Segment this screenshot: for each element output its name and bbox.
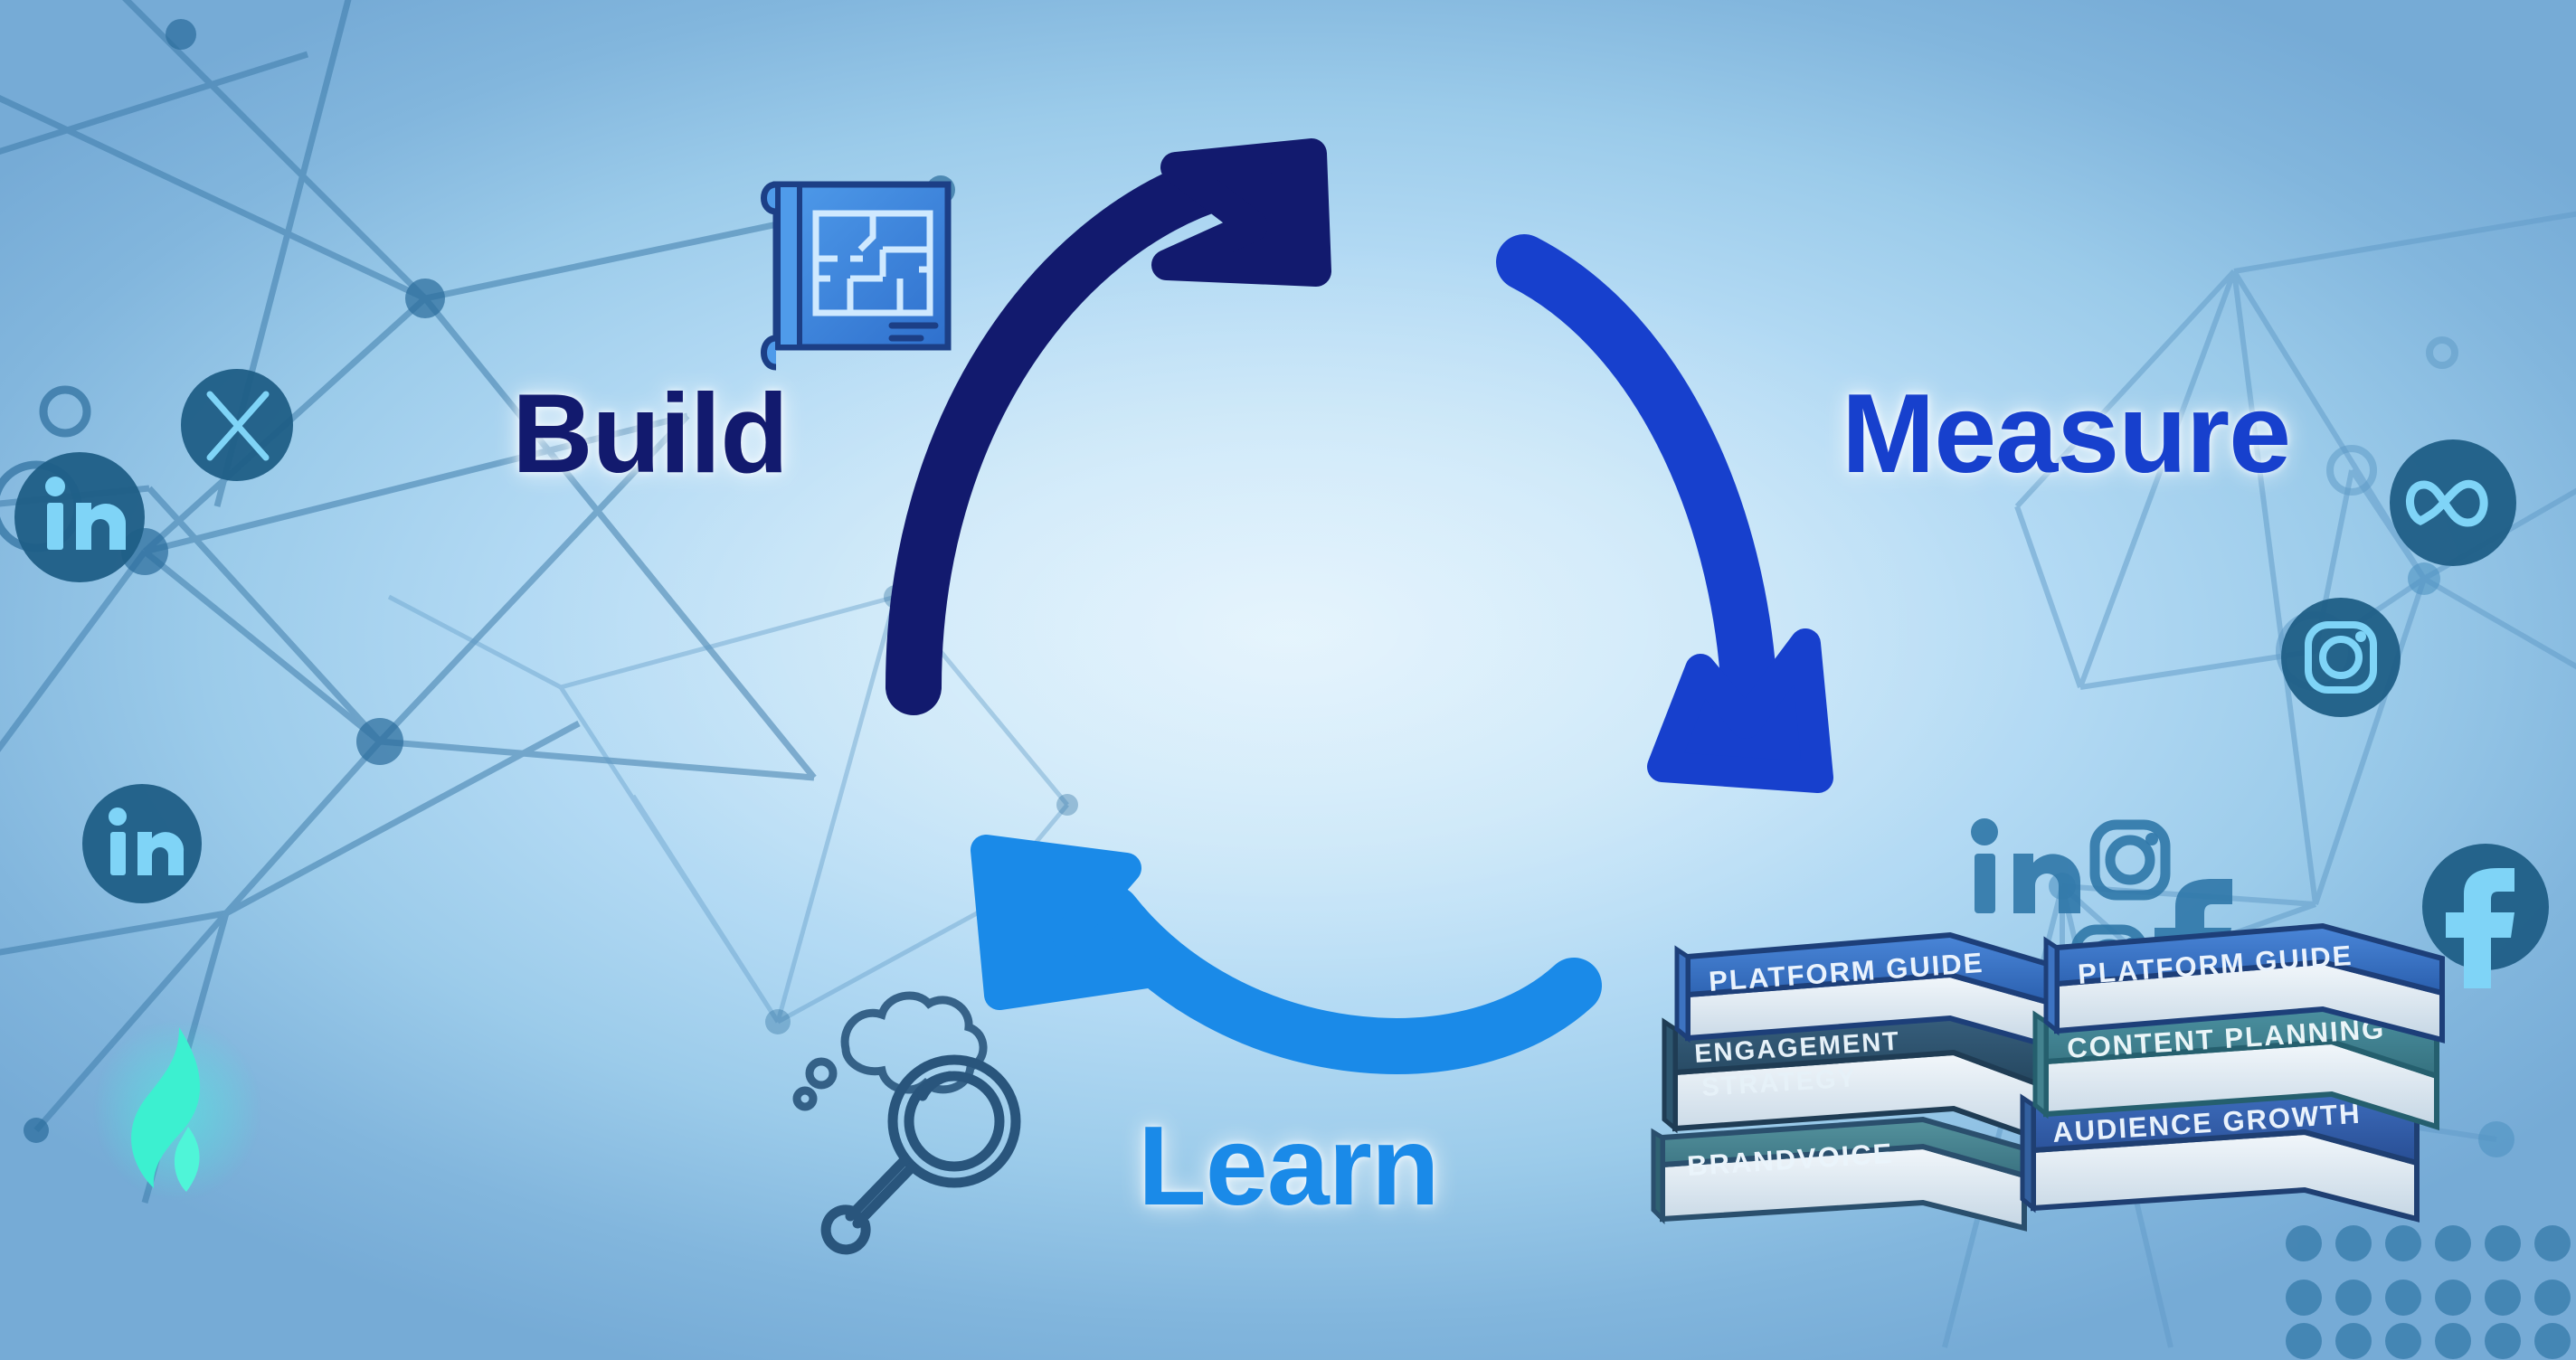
cycle-infographic-canvas: BRANDVOICE ENGAGEMENT STRATEGY PLATFORM … [0,0,2576,1360]
book[interactable]: BRANDVOICE [1653,1119,2024,1228]
book-stacks: BRANDVOICE ENGAGEMENT STRATEGY PLATFORM … [0,0,2576,1360]
book-stack-left: BRANDVOICE ENGAGEMENT STRATEGY PLATFORM … [1653,935,2053,1228]
book-stack-right: AUDIENCE GROWTH CONTENT PLANNING PLATFOR… [2022,926,2442,1219]
flame-logo-icon [96,1020,259,1201]
